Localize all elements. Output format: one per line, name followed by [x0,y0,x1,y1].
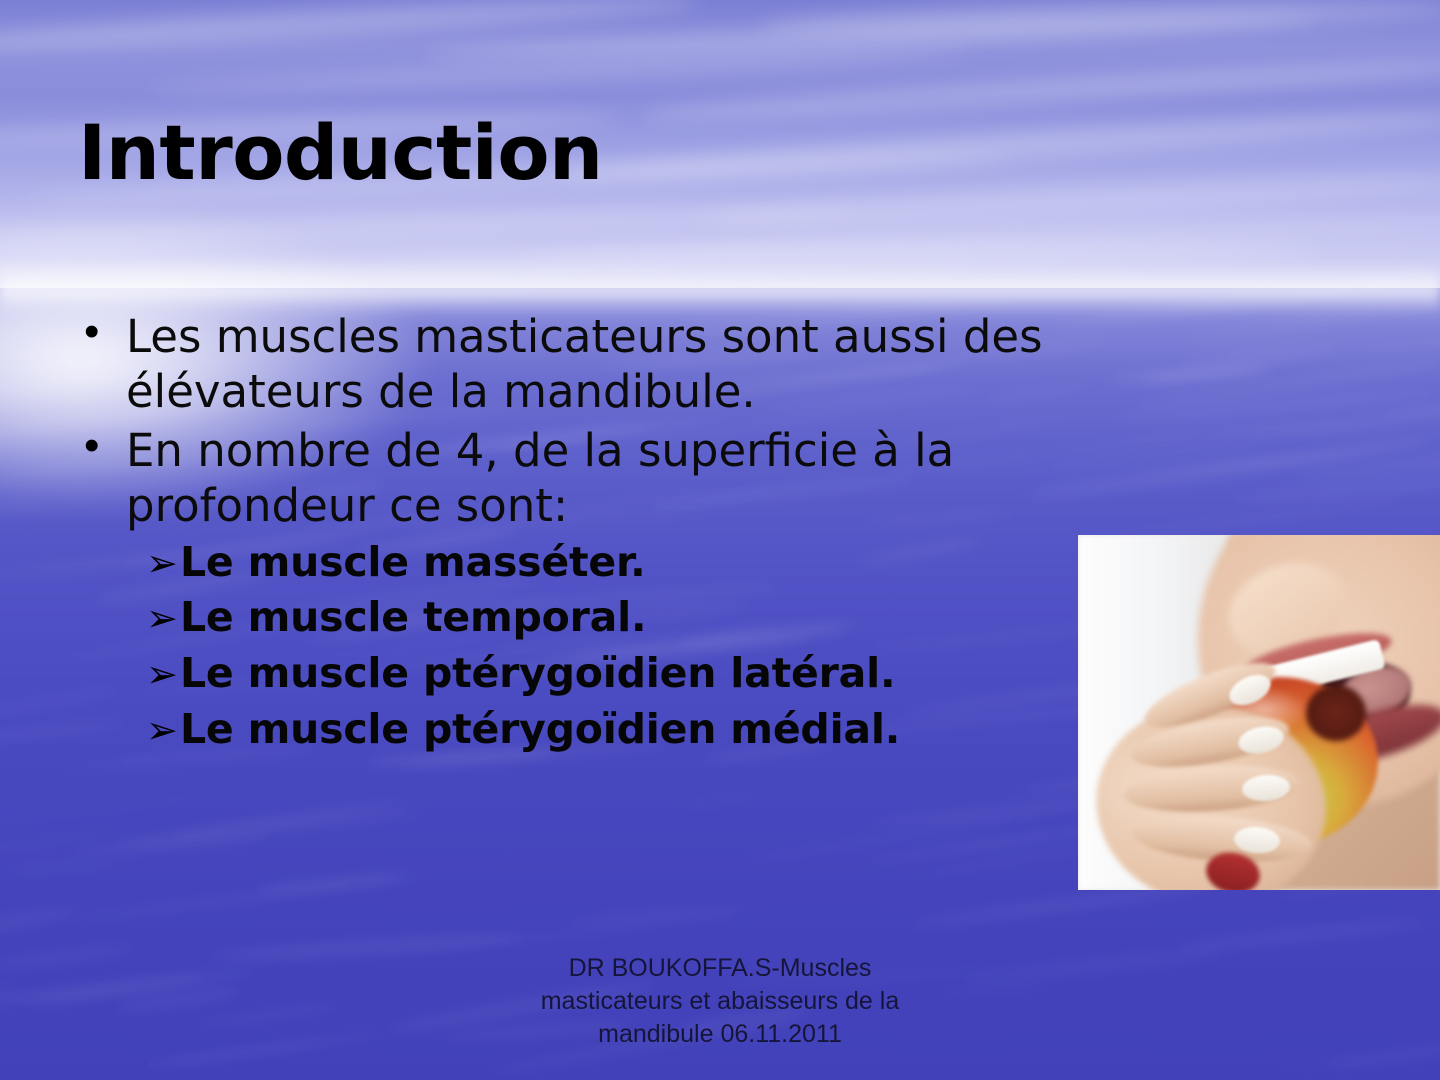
apple-bite-photo [1078,535,1440,890]
water-ripple [5,858,121,875]
list-item: ➢ Le muscle ptérygoïdien médial. [146,707,1084,753]
sub-bullet-text: Le muscle masséter. [180,540,646,586]
bullet-dot-icon: • [84,424,126,468]
slide-body: • Les muscles masticateurs sont aussi de… [84,310,1084,763]
list-item: • En nombre de 4, de la superficie à la … [84,424,1084,534]
arrow-right-icon: ➢ [146,656,180,694]
arrow-right-icon: ➢ [146,545,180,583]
list-item: ➢ Le muscle ptérygoïdien latéral. [146,651,1084,697]
slide-footer: DR BOUKOFFA.S-Muscles masticateurs et ab… [420,952,1020,1051]
footer-line-1: DR BOUKOFFA.S-Muscles [420,952,1020,985]
water-ripple [67,875,401,924]
bullet-text: En nombre de 4, de la superficie à la pr… [126,424,1084,534]
water-ripple [1281,1056,1374,1070]
sub-bullet-text: Le muscle ptérygoïdien latéral. [180,651,895,697]
bullet-dot-icon: • [84,310,126,354]
arrow-right-icon: ➢ [146,712,180,750]
water-ripple [1326,1040,1440,1069]
sub-bullet-text: Le muscle temporal. [180,595,646,641]
arrow-right-icon: ➢ [146,600,180,638]
bullet-text: Les muscles masticateurs sont aussi des … [126,310,1084,420]
list-item: ➢ Le muscle masséter. [146,540,1084,586]
water-ripple [1326,319,1440,356]
footer-line-2: masticateurs et abaisseurs de la [420,985,1020,1018]
sub-list: ➢ Le muscle masséter. ➢ Le muscle tempor… [146,540,1084,754]
presentation-slide: Introduction • Les muscles masticateurs … [0,0,1440,1080]
page-title: Introduction [78,108,603,197]
water-ripple [201,1002,341,1028]
list-item: • Les muscles masticateurs sont aussi de… [84,310,1084,420]
water-ripple [680,784,774,811]
water-ripple [0,904,81,944]
photo-inner [1078,535,1440,890]
water-ripple [0,944,133,972]
list-item: ➢ Le muscle temporal. [146,595,1084,641]
water-ripple [1177,915,1429,954]
photo-apple-bite-mark [1306,685,1366,741]
footer-line-3: mandibule 06.11.2011 [420,1018,1020,1051]
sub-bullet-text: Le muscle ptérygoïdien médial. [180,707,900,753]
water-ripple [143,1030,388,1069]
